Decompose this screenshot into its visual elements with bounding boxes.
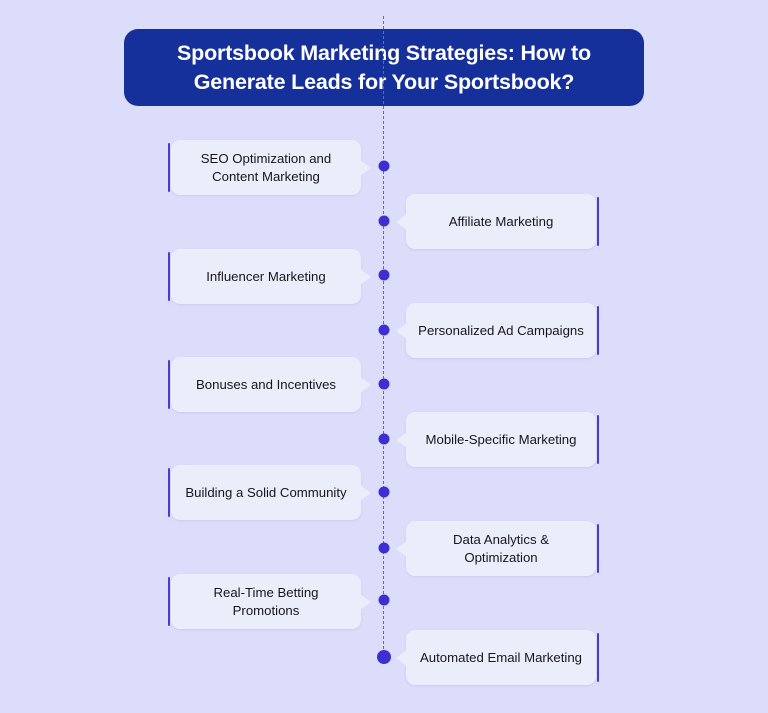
header-banner: Sportsbook Marketing Strategies: How to … [124, 29, 644, 106]
timeline-node-dot [377, 650, 391, 664]
card-pointer-tail [360, 377, 371, 393]
card-pointer-tail [360, 594, 371, 610]
page-title: Sportsbook Marketing Strategies: How to … [146, 39, 622, 96]
timeline-card[interactable]: Influencer Marketing [171, 249, 361, 304]
timeline-card-label: SEO Optimization and Content Marketing [171, 150, 361, 185]
timeline-card[interactable]: Affiliate Marketing [406, 194, 596, 249]
timeline-card-label: Personalized Ad Campaigns [406, 322, 596, 340]
card-pointer-tail [396, 214, 407, 230]
timeline-card[interactable]: Automated Email Marketing [406, 630, 596, 685]
timeline-node-dot [379, 325, 390, 336]
timeline-card[interactable]: Building a Solid Community [171, 465, 361, 520]
timeline-node-dot [379, 216, 390, 227]
card-accent-bar [597, 524, 599, 573]
timeline-card[interactable]: Bonuses and Incentives [171, 357, 361, 412]
timeline-card-label: Mobile-Specific Marketing [406, 431, 596, 449]
timeline-node-dot [379, 270, 390, 281]
card-pointer-tail [396, 323, 407, 339]
card-accent-bar [597, 633, 599, 682]
card-pointer-tail [396, 650, 407, 666]
timeline-card-label: Data Analytics & Optimization [406, 531, 596, 566]
card-pointer-tail [360, 269, 371, 285]
card-pointer-tail [396, 432, 407, 448]
card-pointer-tail [360, 160, 371, 176]
timeline-card-label: Real-Time Betting Promotions [171, 584, 361, 619]
timeline-node-dot [379, 487, 390, 498]
card-pointer-tail [360, 485, 371, 501]
timeline-card-label: Automated Email Marketing [406, 649, 596, 667]
card-pointer-tail [396, 541, 407, 557]
timeline-spine [383, 16, 384, 664]
card-accent-bar [597, 415, 599, 464]
timeline-card[interactable]: Personalized Ad Campaigns [406, 303, 596, 358]
card-accent-bar [597, 306, 599, 355]
timeline-card-label: Affiliate Marketing [406, 213, 596, 231]
timeline-node-dot [379, 434, 390, 445]
timeline-card-label: Bonuses and Incentives [171, 376, 361, 394]
card-accent-bar [597, 197, 599, 246]
timeline-node-dot [379, 543, 390, 554]
timeline-node-dot [379, 595, 390, 606]
timeline-card-label: Building a Solid Community [171, 484, 361, 502]
timeline-card[interactable]: Data Analytics & Optimization [406, 521, 596, 576]
timeline-card[interactable]: SEO Optimization and Content Marketing [171, 140, 361, 195]
timeline-card[interactable]: Real-Time Betting Promotions [171, 574, 361, 629]
timeline-node-dot [379, 161, 390, 172]
timeline-card[interactable]: Mobile-Specific Marketing [406, 412, 596, 467]
timeline-node-dot [379, 379, 390, 390]
timeline-card-label: Influencer Marketing [171, 268, 361, 286]
infographic-canvas: Sportsbook Marketing Strategies: How to … [0, 0, 768, 713]
